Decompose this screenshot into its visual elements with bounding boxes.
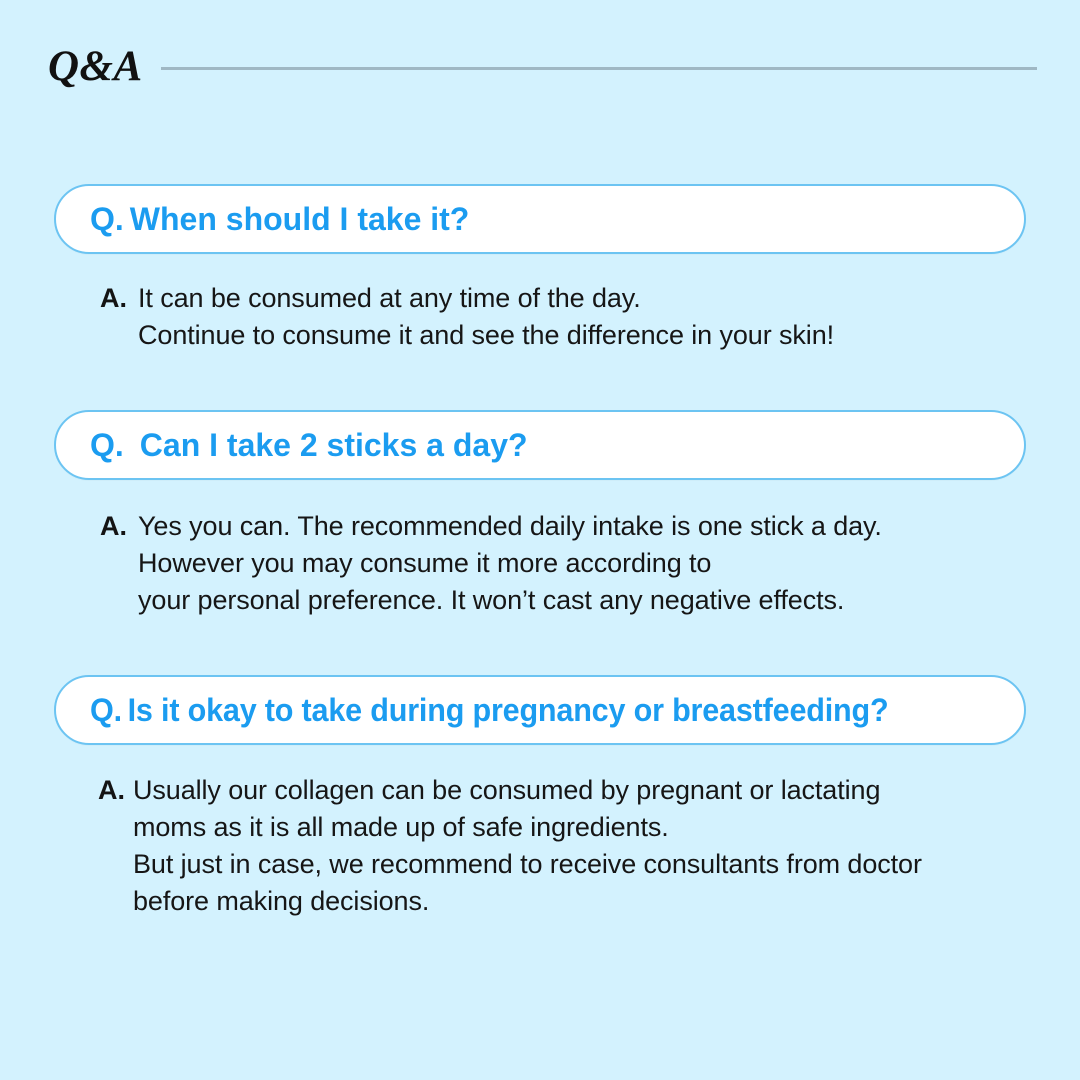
answer-text: Usually our collagen can be consumed by … (133, 772, 1026, 920)
question-label: Is it okay to take during pregnancy or b… (128, 692, 889, 728)
answer-text: It can be consumed at any time of the da… (138, 280, 1026, 354)
question-text: Q.Can I take 2 sticks a day? (90, 429, 528, 461)
answer-block: A. Usually our collagen can be consumed … (54, 772, 1026, 920)
answer-line: It can be consumed at any time of the da… (138, 280, 1026, 317)
answer-line: Continue to consume it and see the diffe… (138, 317, 1026, 354)
page-header: Q&A (48, 38, 1037, 94)
qa-block: Q.When should I take it? A. It can be co… (54, 184, 1026, 354)
question-label: When should I take it? (130, 201, 470, 237)
answer-marker: A. (100, 280, 127, 317)
qa-block: Q.Can I take 2 sticks a day? A. Yes you … (54, 410, 1026, 619)
answer-marker: A. (100, 508, 127, 545)
answer-marker: A. (98, 772, 125, 809)
answer-line: moms as it is all made up of safe ingred… (133, 809, 1026, 846)
question-card[interactable]: Q.When should I take it? (54, 184, 1026, 254)
page-title: Q&A (48, 45, 143, 88)
question-marker: Q. (90, 692, 122, 728)
answer-block: A. It can be consumed at any time of the… (54, 280, 1026, 354)
question-marker: Q. (90, 201, 124, 237)
question-card[interactable]: Q.Can I take 2 sticks a day? (54, 410, 1026, 480)
answer-line: Yes you can. The recommended daily intak… (138, 508, 1026, 545)
answer-line: However you may consume it more accordin… (138, 545, 1026, 582)
answer-line: But just in case, we recommend to receiv… (133, 846, 1026, 883)
question-marker: Q. (90, 427, 124, 463)
answer-line: before making decisions. (133, 883, 1026, 920)
answer-line: Usually our collagen can be consumed by … (133, 772, 1026, 809)
question-text: Q.When should I take it? (90, 203, 469, 235)
question-label: Can I take 2 sticks a day? (140, 427, 528, 463)
question-card[interactable]: Q.Is it okay to take during pregnancy or… (54, 675, 1026, 745)
answer-block: A. Yes you can. The recommended daily in… (54, 508, 1026, 619)
qa-list: Q.When should I take it? A. It can be co… (54, 184, 1026, 920)
question-text: Q.Is it okay to take during pregnancy or… (90, 694, 888, 726)
header-divider (161, 67, 1037, 70)
answer-line: your personal preference. It won’t cast … (138, 582, 1026, 619)
qa-block: Q.Is it okay to take during pregnancy or… (54, 675, 1026, 920)
answer-text: Yes you can. The recommended daily intak… (138, 508, 1026, 619)
